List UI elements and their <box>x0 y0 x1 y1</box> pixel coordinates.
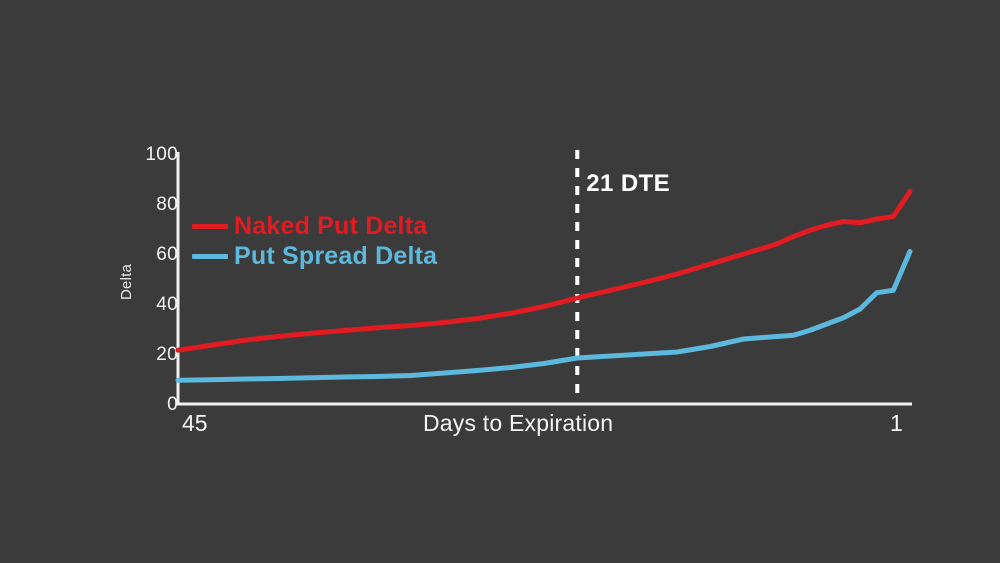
line-naked-put-delta <box>178 192 910 351</box>
line-put-spread-delta <box>178 252 910 381</box>
axis-spine <box>178 152 912 404</box>
plot-area <box>0 0 1000 563</box>
chart-canvas: 100 80 60 40 20 0 Delta 45 Days to Expir… <box>0 0 1000 563</box>
